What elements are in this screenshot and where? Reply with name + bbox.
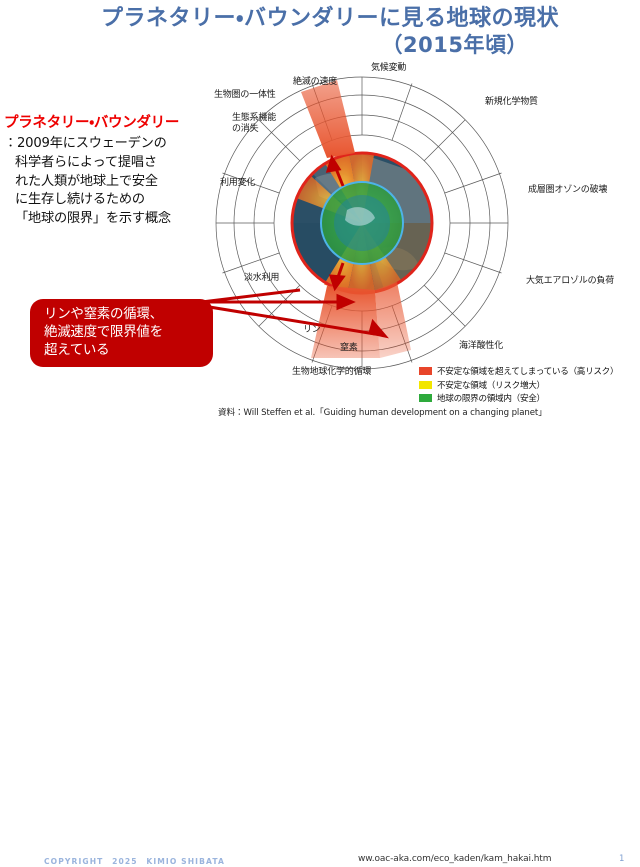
label-atmospheric-aerosol-loading: 大気エアロゾルの負荷 <box>526 276 614 287</box>
legend: 不安定な領域を超えてしまっている（高リスク） 不安定な領域（リスク増大） 地球の… <box>419 365 637 406</box>
definition-line-4: に生存し続けるための <box>4 191 236 210</box>
legend-label-safe: 地球の限界の領域内（安全） <box>437 392 545 404</box>
label-climate-change: 気候変動 <box>371 63 406 74</box>
definition-block: プラネタリー・バウンダリー ：2009年にスウェーデンの 科学者らによって提唱さ… <box>4 114 236 229</box>
footer: COPYRIGHT 2025 KIMIO SHIBATA ww.oac-aka.… <box>0 424 640 451</box>
callout-line-1: リンや窒素の循環、 <box>44 306 209 324</box>
legend-swatch-safe <box>419 394 432 402</box>
title-subtitle: （2015年頃） <box>0 33 640 58</box>
definition-line-2: 科学者らによって提唱さ <box>4 154 236 173</box>
callout-line-3: 超えている <box>44 342 209 360</box>
copyright-notice: COPYRIGHT 2025 KIMIO SHIBATA <box>44 856 225 867</box>
label-ecosystem-function-loss-line2: の消失 <box>232 124 276 135</box>
definition-body: ：2009年にスウェーデンの 科学者らによって提唱さ れた人類が地球上で安全 に… <box>4 135 236 229</box>
label-biosphere-integrity: 生物圏の一体性 <box>214 90 276 101</box>
callout-line-2: 絶滅速度で限界値を <box>44 324 209 342</box>
title-main: プラネタリー・バウンダリーに見る地球の現状 <box>0 6 640 31</box>
label-novel-entities: 新規化学物質 <box>485 97 538 108</box>
page-title: プラネタリー・バウンダリーに見る地球の現状 （2015年頃） <box>0 6 640 58</box>
exceedance-wedge-extinction <box>301 80 355 158</box>
footer-url: ww.oac-aka.com/eco_kaden/kam_hakai.htm <box>358 854 551 864</box>
callout-text: リンや窒素の循環、 絶滅速度で限界値を 超えている <box>44 306 209 360</box>
page-number: 1 <box>619 854 624 864</box>
legend-label-increasing-risk: 不安定な領域（リスク増大） <box>437 379 545 391</box>
legend-item-safe: 地球の限界の領域内（安全） <box>419 392 637 404</box>
label-stratospheric-ozone-depletion: 成層圏オゾンの破壊 <box>528 185 607 196</box>
slide-canvas: プラネタリー・バウンダリーに見る地球の現状 （2015年頃） プラネタリー・バウ… <box>0 0 640 451</box>
definition-heading: プラネタリー・バウンダリー <box>4 114 236 132</box>
definition-line-3: れた人類が地球上で安全 <box>4 173 236 192</box>
source-citation: 資料：Will Steffen et al.「Guiding human dev… <box>218 406 547 418</box>
label-ecosystem-function-loss: 生態系機能 の消失 <box>232 113 276 136</box>
label-ocean-acidification: 海洋酸性化 <box>459 341 503 352</box>
definition-line-1: ：2009年にスウェーデンの <box>4 135 236 154</box>
legend-item-high-risk: 不安定な領域を超えてしまっている（高リスク） <box>419 365 637 377</box>
label-ecosystem-function-loss-line1: 生態系機能 <box>232 113 276 124</box>
legend-swatch-increasing-risk <box>419 381 432 389</box>
label-rate-of-extinction: 絶滅の速度 <box>293 77 337 88</box>
callout-box: リンや窒素の循環、 絶滅速度で限界値を 超えている <box>30 299 213 367</box>
legend-label-high-risk: 不安定な領域を超えてしまっている（高リスク） <box>437 365 618 377</box>
definition-line-5: 「地球の限界」を示す概念 <box>4 210 236 229</box>
legend-item-increasing-risk: 不安定な領域（リスク増大） <box>419 379 637 391</box>
